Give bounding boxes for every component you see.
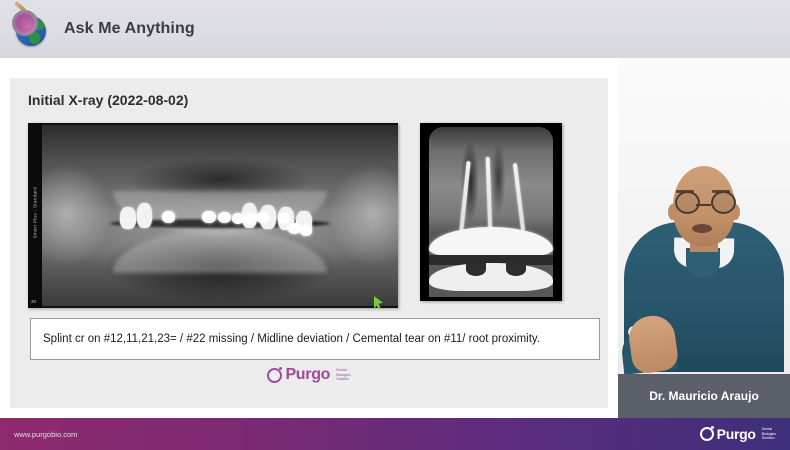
globe-magnifier-logo [8, 6, 54, 52]
presenter-sweater-neckline [686, 248, 720, 278]
slide-panel: Initial X-ray (2022-08-02) Smart Plus - … [10, 78, 608, 408]
purgo-tagline: Dental Biologics Solution [762, 427, 776, 442]
root-canal-filling [513, 163, 525, 231]
purgo-tagline-line1: Dental [762, 427, 772, 431]
purgo-tagline-line3: Solution [336, 377, 349, 381]
panoramic-side-label: Smart Plus - Standard [33, 169, 38, 239]
restoration [232, 213, 244, 224]
restoration [202, 211, 216, 223]
restoration [278, 213, 290, 223]
findings-caption-box: Splint cr on #12,11,21,23= / #22 missing… [30, 318, 600, 360]
presenter-name: Dr. Mauricio Araujo [649, 389, 759, 403]
purgo-mark-icon [700, 427, 714, 441]
mandibular-arch-shadow [113, 229, 327, 273]
restoration [162, 211, 175, 223]
tooth [120, 207, 136, 229]
findings-caption-text: Splint cr on #12,11,21,23= / #22 missing… [43, 333, 540, 345]
purgo-wordmark: Purgo [717, 426, 756, 442]
crown-scallop [506, 263, 526, 276]
app-header: Ask Me Anything [0, 0, 790, 58]
footer-url[interactable]: www.purgobio.com [14, 430, 77, 439]
panoramic-sidebar: Smart Plus - Standard 30 [28, 123, 42, 308]
magnifier-icon [12, 10, 38, 36]
periapical-radiograph [420, 123, 562, 301]
presenter-glasses-bridge [696, 204, 711, 206]
purgo-tagline-line2: Biologics [762, 432, 776, 436]
magnifier-handle-icon [14, 1, 26, 13]
root-canal-filling [459, 161, 470, 231]
slide-brand-logo: Purgo Dental Biologics Solution [10, 366, 608, 384]
panoramic-image [42, 125, 398, 306]
lower-crowns [429, 263, 553, 291]
footer-bar: www.purgobio.com Purgo Dental Biologics … [0, 418, 790, 450]
presenter-glasses-right [711, 191, 736, 214]
purgo-tagline-line2: Biologics [336, 373, 350, 377]
purgo-tagline-line3: Solution [762, 436, 775, 440]
presenter-video[interactable]: Dr. Mauricio Araujo [618, 58, 790, 418]
presenter-name-bar: Dr. Mauricio Araujo [618, 374, 790, 418]
tooth [137, 203, 152, 228]
slide-title: Initial X-ray (2022-08-02) [28, 92, 188, 108]
restoration [256, 212, 269, 223]
panoramic-corner-label: 30 [31, 299, 36, 304]
restoration [300, 225, 312, 236]
presenter-mouth [692, 224, 712, 233]
purgo-wordmark: Purgo [285, 366, 330, 384]
crown-scallop [466, 263, 486, 276]
purgo-tagline-line1: Dental [336, 368, 346, 372]
page-title: Ask Me Anything [64, 20, 195, 38]
root-canal-filling [486, 157, 493, 233]
panoramic-radiograph: Smart Plus - Standard 30 [28, 123, 398, 308]
restoration [218, 212, 231, 223]
purgo-mark-icon [267, 368, 282, 383]
footer-brand-logo: Purgo Dental Biologics Solution [700, 426, 776, 442]
restoration [244, 213, 256, 224]
presenter-glasses-left [675, 191, 700, 214]
purgo-tagline: Dental Biologics Solution [336, 368, 350, 383]
